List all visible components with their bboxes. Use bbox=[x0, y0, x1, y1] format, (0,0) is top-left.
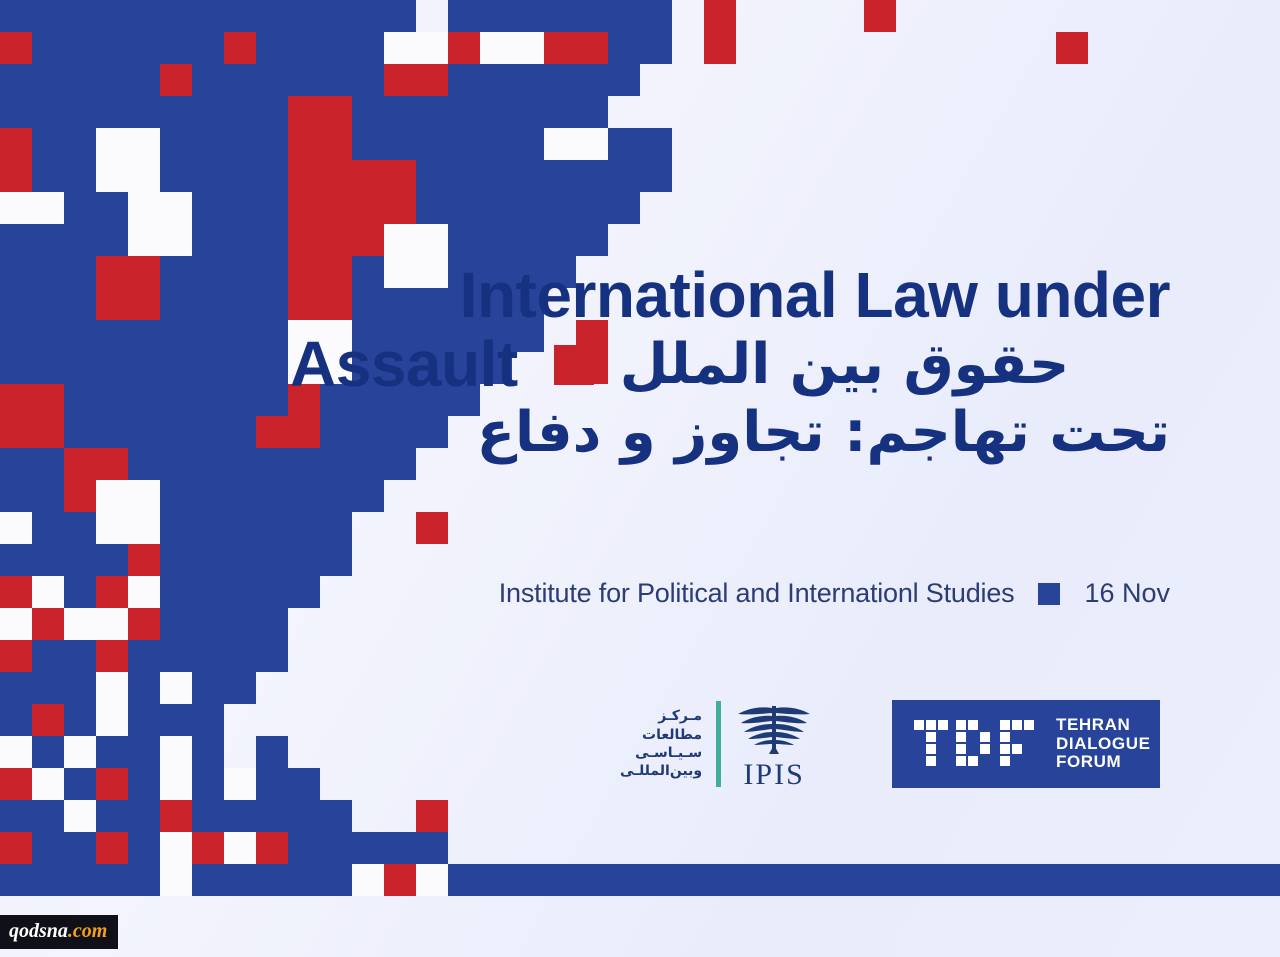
mosaic-tile bbox=[160, 448, 192, 480]
mosaic-tile bbox=[0, 320, 32, 352]
mosaic-tile bbox=[0, 640, 32, 672]
mosaic-tile bbox=[384, 64, 416, 96]
mosaic-tile bbox=[288, 864, 320, 896]
mosaic-tile bbox=[544, 0, 576, 32]
mosaic-tile bbox=[320, 96, 352, 128]
mosaic-tile bbox=[256, 224, 288, 256]
mosaic-tile bbox=[416, 224, 448, 256]
ipis-farsi-name: مـرکـز مطالعات سـیـاسـی وبین‌المللـی bbox=[620, 707, 702, 781]
mosaic-tile bbox=[416, 96, 448, 128]
mosaic-tile bbox=[128, 160, 160, 192]
mosaic-tile bbox=[992, 864, 1024, 896]
mosaic-tile bbox=[512, 0, 544, 32]
mosaic-tile bbox=[96, 448, 128, 480]
mosaic-tile bbox=[160, 480, 192, 512]
mosaic-tile bbox=[608, 0, 640, 32]
mosaic-tile bbox=[32, 320, 64, 352]
mosaic-tile bbox=[0, 96, 32, 128]
mosaic-tile bbox=[128, 96, 160, 128]
mosaic-tile bbox=[416, 64, 448, 96]
red-square-accent-icon bbox=[554, 345, 594, 385]
mosaic-tile bbox=[32, 672, 64, 704]
mosaic-tile bbox=[480, 192, 512, 224]
mosaic-tile bbox=[64, 576, 96, 608]
mosaic-tile bbox=[608, 64, 640, 96]
mosaic-tile bbox=[0, 128, 32, 160]
mosaic-tile bbox=[448, 160, 480, 192]
mosaic-tile bbox=[128, 544, 160, 576]
mosaic-tile bbox=[160, 608, 192, 640]
mosaic-tile bbox=[288, 512, 320, 544]
mosaic-tile bbox=[480, 128, 512, 160]
mosaic-tile bbox=[224, 160, 256, 192]
title-farsi-line2-wrap: تحت تهاجم: تجاوز و دفاع bbox=[290, 402, 1170, 464]
mosaic-tile bbox=[64, 352, 96, 384]
mosaic-tile bbox=[320, 480, 352, 512]
mosaic-tile bbox=[192, 160, 224, 192]
blue-square-accent-icon bbox=[1038, 583, 1060, 605]
mosaic-tile bbox=[96, 128, 128, 160]
mosaic-tile bbox=[1152, 864, 1184, 896]
mosaic-tile bbox=[864, 0, 896, 32]
mosaic-tile bbox=[192, 576, 224, 608]
mosaic-tile bbox=[512, 224, 544, 256]
mosaic-tile bbox=[288, 768, 320, 800]
mosaic-tile bbox=[224, 320, 256, 352]
mosaic-tile bbox=[480, 0, 512, 32]
mosaic-tile bbox=[96, 160, 128, 192]
mosaic-tile bbox=[160, 0, 192, 32]
mosaic-tile bbox=[96, 512, 128, 544]
mosaic-tile bbox=[512, 96, 544, 128]
mosaic-tile bbox=[192, 800, 224, 832]
mosaic-tile bbox=[32, 352, 64, 384]
mosaic-tile bbox=[0, 736, 32, 768]
mosaic-tile bbox=[128, 704, 160, 736]
mosaic-tile bbox=[320, 832, 352, 864]
mosaic-tile bbox=[256, 448, 288, 480]
ipis-farsi-line4: وبین‌المللـی bbox=[620, 762, 702, 780]
mosaic-tile bbox=[160, 640, 192, 672]
mosaic-tile bbox=[32, 704, 64, 736]
mosaic-tile bbox=[64, 416, 96, 448]
mosaic-tile bbox=[96, 192, 128, 224]
mosaic-tile bbox=[288, 544, 320, 576]
mosaic-tile bbox=[544, 192, 576, 224]
mosaic-tile bbox=[160, 832, 192, 864]
mosaic-tile bbox=[768, 864, 800, 896]
mosaic-tile bbox=[288, 64, 320, 96]
mosaic-tile bbox=[384, 832, 416, 864]
mosaic-tile bbox=[0, 832, 32, 864]
mosaic-tile bbox=[96, 672, 128, 704]
mosaic-tile bbox=[352, 192, 384, 224]
mosaic-tile bbox=[576, 192, 608, 224]
mosaic-tile bbox=[32, 864, 64, 896]
mosaic-tile bbox=[64, 192, 96, 224]
mosaic-tile bbox=[224, 0, 256, 32]
mosaic-tile bbox=[128, 800, 160, 832]
mosaic-tile bbox=[608, 128, 640, 160]
mosaic-tile bbox=[96, 416, 128, 448]
mosaic-tile bbox=[224, 864, 256, 896]
mosaic-tile bbox=[1024, 864, 1056, 896]
mosaic-tile bbox=[192, 480, 224, 512]
mosaic-tile bbox=[32, 544, 64, 576]
mosaic-tile bbox=[128, 128, 160, 160]
mosaic-tile bbox=[320, 864, 352, 896]
mosaic-tile bbox=[288, 576, 320, 608]
mosaic-tile bbox=[32, 0, 64, 32]
mosaic-tile bbox=[192, 320, 224, 352]
mosaic-tile bbox=[32, 416, 64, 448]
mosaic-tile bbox=[128, 768, 160, 800]
mosaic-tile bbox=[256, 0, 288, 32]
mosaic-tile bbox=[320, 32, 352, 64]
mosaic-tile bbox=[352, 128, 384, 160]
mosaic-tile bbox=[256, 64, 288, 96]
pixel-mosaic-background bbox=[0, 0, 1280, 957]
mosaic-tile bbox=[1056, 32, 1088, 64]
mosaic-tile bbox=[224, 832, 256, 864]
ipis-mark: IPIS bbox=[735, 698, 813, 790]
mosaic-tile bbox=[160, 96, 192, 128]
mosaic-tile bbox=[1184, 864, 1216, 896]
mosaic-tile bbox=[640, 0, 672, 32]
mosaic-tile bbox=[224, 64, 256, 96]
mosaic-tile bbox=[160, 672, 192, 704]
mosaic-tile bbox=[256, 320, 288, 352]
mosaic-tile bbox=[256, 160, 288, 192]
mosaic-tile bbox=[160, 320, 192, 352]
mosaic-tile bbox=[160, 160, 192, 192]
mosaic-tile bbox=[576, 864, 608, 896]
mosaic-tile bbox=[160, 416, 192, 448]
mosaic-tile bbox=[128, 672, 160, 704]
mosaic-tile bbox=[224, 256, 256, 288]
mosaic-tile bbox=[160, 576, 192, 608]
mosaic-tile bbox=[32, 32, 64, 64]
mosaic-tile bbox=[96, 320, 128, 352]
mosaic-tile bbox=[448, 128, 480, 160]
mosaic-tile bbox=[128, 0, 160, 32]
mosaic-tile bbox=[128, 288, 160, 320]
mosaic-tile bbox=[64, 800, 96, 832]
mosaic-tile bbox=[384, 128, 416, 160]
mosaic-tile bbox=[0, 0, 32, 32]
mosaic-tile bbox=[224, 128, 256, 160]
ipis-farsi-line3: سـیـاسـی bbox=[620, 744, 702, 762]
mosaic-tile bbox=[64, 544, 96, 576]
mosaic-tile bbox=[320, 800, 352, 832]
mosaic-tile bbox=[0, 384, 32, 416]
mosaic-tile bbox=[32, 576, 64, 608]
mosaic-tile bbox=[160, 800, 192, 832]
mosaic-tile bbox=[480, 96, 512, 128]
mosaic-tile bbox=[96, 0, 128, 32]
mosaic-tile bbox=[448, 192, 480, 224]
mosaic-tile bbox=[64, 672, 96, 704]
mosaic-tile bbox=[736, 864, 768, 896]
mosaic-tile bbox=[448, 864, 480, 896]
mosaic-tile bbox=[64, 384, 96, 416]
ipis-divider bbox=[716, 701, 721, 787]
mosaic-tile bbox=[256, 192, 288, 224]
mosaic-tile bbox=[960, 864, 992, 896]
mosaic-tile bbox=[64, 480, 96, 512]
mosaic-tile bbox=[0, 544, 32, 576]
mosaic-tile bbox=[512, 32, 544, 64]
mosaic-tile bbox=[160, 256, 192, 288]
ipis-acronym: IPIS bbox=[743, 760, 804, 790]
mosaic-tile bbox=[160, 224, 192, 256]
mosaic-tile bbox=[128, 32, 160, 64]
mosaic-tile bbox=[64, 448, 96, 480]
mosaic-tile bbox=[288, 96, 320, 128]
mosaic-tile bbox=[128, 192, 160, 224]
mosaic-tile bbox=[32, 192, 64, 224]
mosaic-tile bbox=[64, 96, 96, 128]
mosaic-tile bbox=[544, 224, 576, 256]
mosaic-tile bbox=[32, 512, 64, 544]
mosaic-tile bbox=[160, 64, 192, 96]
mosaic-tile bbox=[64, 288, 96, 320]
mosaic-tile bbox=[224, 448, 256, 480]
mosaic-tile bbox=[224, 288, 256, 320]
source-watermark: qodsna .com bbox=[0, 915, 118, 949]
mosaic-tile bbox=[96, 800, 128, 832]
mosaic-tile bbox=[128, 448, 160, 480]
title-farsi-line1: حقوق بین الملل bbox=[620, 334, 1070, 396]
mosaic-tile bbox=[96, 736, 128, 768]
mosaic-tile bbox=[448, 32, 480, 64]
mosaic-tile bbox=[192, 288, 224, 320]
mosaic-tile bbox=[640, 160, 672, 192]
mosaic-tile bbox=[64, 736, 96, 768]
mosaic-tile bbox=[608, 160, 640, 192]
mosaic-tile bbox=[416, 512, 448, 544]
tdf-pixel-mark-icon bbox=[914, 720, 1040, 768]
mosaic-tile bbox=[96, 224, 128, 256]
mosaic-tile bbox=[64, 608, 96, 640]
mosaic-tile bbox=[96, 96, 128, 128]
mosaic-tile bbox=[416, 192, 448, 224]
mosaic-tile bbox=[224, 608, 256, 640]
organizer-label: Institute for Political and Internationl… bbox=[499, 578, 1015, 609]
mosaic-tile bbox=[1248, 864, 1280, 896]
mosaic-tile bbox=[192, 128, 224, 160]
mosaic-tile bbox=[160, 384, 192, 416]
mosaic-tile bbox=[576, 160, 608, 192]
mosaic-tile bbox=[576, 96, 608, 128]
mosaic-tile bbox=[384, 160, 416, 192]
palm-leaf-emblem-icon bbox=[735, 698, 813, 758]
mosaic-tile bbox=[0, 224, 32, 256]
mosaic-tile bbox=[128, 640, 160, 672]
mosaic-tile bbox=[416, 160, 448, 192]
mosaic-tile bbox=[896, 864, 928, 896]
mosaic-tile bbox=[224, 416, 256, 448]
mosaic-tile bbox=[448, 96, 480, 128]
mosaic-tile bbox=[256, 544, 288, 576]
mosaic-tile bbox=[576, 224, 608, 256]
mosaic-tile bbox=[192, 736, 224, 768]
mosaic-tile bbox=[416, 864, 448, 896]
mosaic-tile bbox=[480, 160, 512, 192]
mosaic-tile bbox=[576, 32, 608, 64]
mosaic-tile bbox=[96, 640, 128, 672]
mosaic-tile bbox=[96, 768, 128, 800]
tdf-word-tehran: TEHRAN bbox=[1056, 716, 1151, 734]
mosaic-tile bbox=[64, 128, 96, 160]
mosaic-tile bbox=[32, 480, 64, 512]
mosaic-tile bbox=[928, 864, 960, 896]
mosaic-tile bbox=[320, 224, 352, 256]
mosaic-tile bbox=[384, 224, 416, 256]
mosaic-tile bbox=[640, 32, 672, 64]
mosaic-tile bbox=[256, 384, 288, 416]
mosaic-tile bbox=[288, 832, 320, 864]
tdf-logo: TEHRAN DIALOGUE FORUM bbox=[892, 700, 1160, 788]
mosaic-tile bbox=[64, 864, 96, 896]
mosaic-tile bbox=[32, 832, 64, 864]
mosaic-tile bbox=[1120, 864, 1152, 896]
mosaic-tile bbox=[96, 832, 128, 864]
mosaic-tile bbox=[96, 256, 128, 288]
mosaic-tile bbox=[352, 64, 384, 96]
mosaic-tile bbox=[224, 96, 256, 128]
mosaic-tile bbox=[224, 384, 256, 416]
tdf-word-dialogue: DIALOGUE bbox=[1056, 735, 1151, 753]
mosaic-tile bbox=[1056, 864, 1088, 896]
mosaic-tile bbox=[64, 768, 96, 800]
mosaic-tile bbox=[320, 64, 352, 96]
mosaic-tile bbox=[160, 192, 192, 224]
mosaic-tile bbox=[224, 544, 256, 576]
mosaic-tile bbox=[320, 544, 352, 576]
mosaic-tile bbox=[384, 96, 416, 128]
mosaic-tile bbox=[544, 96, 576, 128]
mosaic-tile bbox=[192, 352, 224, 384]
mosaic-tile bbox=[480, 224, 512, 256]
mosaic-tile bbox=[448, 64, 480, 96]
mosaic-tile bbox=[192, 608, 224, 640]
mosaic-tile bbox=[0, 704, 32, 736]
mosaic-tile bbox=[128, 320, 160, 352]
mosaic-tile bbox=[192, 768, 224, 800]
mosaic-tile bbox=[128, 256, 160, 288]
mosaic-tile bbox=[192, 96, 224, 128]
mosaic-tile bbox=[128, 64, 160, 96]
ipis-farsi-line2: مطالعات bbox=[620, 726, 702, 744]
mosaic-tile bbox=[672, 864, 704, 896]
mosaic-tile bbox=[32, 256, 64, 288]
mosaic-tile bbox=[128, 608, 160, 640]
mosaic-tile bbox=[576, 128, 608, 160]
mosaic-tile bbox=[608, 864, 640, 896]
watermark-tld: .com bbox=[68, 920, 107, 943]
mosaic-tile bbox=[608, 32, 640, 64]
mosaic-tile bbox=[256, 352, 288, 384]
mosaic-tile bbox=[32, 736, 64, 768]
mosaic-tile bbox=[256, 512, 288, 544]
mosaic-tile bbox=[0, 416, 32, 448]
mosaic-tile bbox=[32, 64, 64, 96]
mosaic-tile bbox=[0, 864, 32, 896]
mosaic-tile bbox=[256, 736, 288, 768]
mosaic-tile bbox=[512, 864, 544, 896]
mosaic-tile bbox=[0, 160, 32, 192]
mosaic-tile bbox=[192, 384, 224, 416]
title-english-line2: Assault bbox=[290, 331, 518, 398]
mosaic-tile bbox=[0, 480, 32, 512]
mosaic-tile bbox=[288, 0, 320, 32]
mosaic-tile bbox=[96, 64, 128, 96]
mosaic-tile bbox=[352, 224, 384, 256]
mosaic-tile bbox=[480, 64, 512, 96]
mosaic-tile bbox=[0, 192, 32, 224]
tdf-word-forum: FORUM bbox=[1056, 753, 1151, 771]
mosaic-tile bbox=[416, 32, 448, 64]
mosaic-tile bbox=[32, 608, 64, 640]
mosaic-tile bbox=[0, 64, 32, 96]
mosaic-tile bbox=[352, 96, 384, 128]
mosaic-tile bbox=[256, 576, 288, 608]
mosaic-tile bbox=[96, 480, 128, 512]
subtitle-row: Institute for Political and Internationl… bbox=[386, 578, 1170, 609]
mosaic-tile bbox=[192, 640, 224, 672]
mosaic-tile bbox=[512, 128, 544, 160]
mosaic-tile bbox=[96, 352, 128, 384]
mosaic-tile bbox=[352, 160, 384, 192]
mosaic-tile bbox=[64, 0, 96, 32]
mosaic-tile bbox=[256, 608, 288, 640]
mosaic-tile bbox=[320, 160, 352, 192]
mosaic-tile bbox=[192, 416, 224, 448]
mosaic-tile bbox=[288, 224, 320, 256]
mosaic-tile bbox=[544, 864, 576, 896]
mosaic-tile bbox=[256, 768, 288, 800]
mosaic-tile bbox=[0, 768, 32, 800]
mosaic-tile bbox=[384, 192, 416, 224]
mosaic-tile bbox=[704, 0, 736, 32]
mosaic-tile bbox=[0, 800, 32, 832]
mosaic-tile bbox=[448, 224, 480, 256]
mosaic-tile bbox=[320, 128, 352, 160]
mosaic-tile bbox=[192, 512, 224, 544]
mosaic-tile bbox=[192, 448, 224, 480]
poster-canvas: International Law under Assault حقوق بین… bbox=[0, 0, 1280, 957]
mosaic-tile bbox=[128, 736, 160, 768]
mosaic-tile bbox=[832, 864, 864, 896]
mosaic-tile bbox=[352, 32, 384, 64]
mosaic-tile bbox=[352, 864, 384, 896]
mosaic-tile bbox=[256, 256, 288, 288]
mosaic-tile bbox=[224, 32, 256, 64]
mosaic-tile bbox=[64, 224, 96, 256]
mosaic-tile bbox=[256, 96, 288, 128]
mosaic-tile bbox=[384, 864, 416, 896]
mosaic-tile bbox=[128, 224, 160, 256]
mosaic-tile bbox=[0, 288, 32, 320]
mosaic-tile bbox=[0, 448, 32, 480]
mosaic-tile bbox=[32, 96, 64, 128]
mosaic-tile bbox=[640, 864, 672, 896]
tdf-wordmark: TEHRAN DIALOGUE FORUM bbox=[1056, 716, 1151, 771]
mosaic-tile bbox=[448, 0, 480, 32]
mosaic-tile bbox=[256, 288, 288, 320]
mosaic-tile bbox=[320, 0, 352, 32]
